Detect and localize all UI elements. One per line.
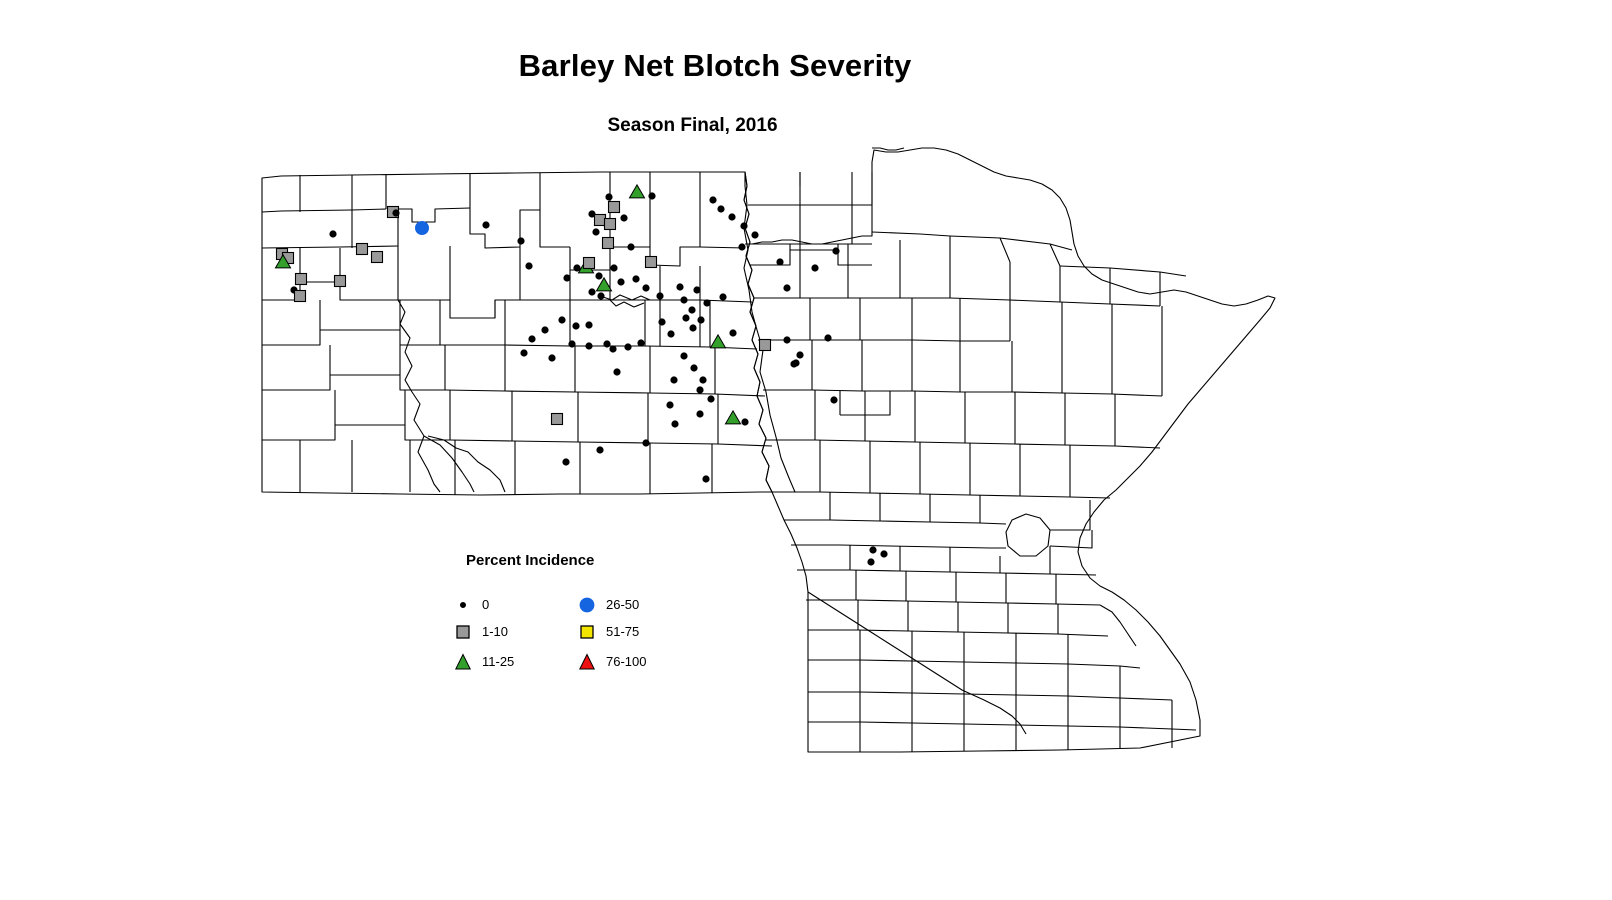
map-point-0: [683, 315, 689, 321]
map-point-0: [542, 327, 548, 333]
map-point-0: [833, 248, 839, 254]
green-triangle: [456, 655, 470, 670]
map-point-0: [708, 396, 714, 402]
small-dot: [460, 602, 465, 607]
map-point-1-10: [609, 202, 620, 213]
map-point-0: [598, 293, 604, 299]
map-point-11-25: [629, 185, 644, 198]
map-point-1-10: [646, 257, 657, 268]
map-point-0: [559, 317, 565, 323]
map-point-0: [549, 355, 555, 361]
legend-label: 76-100: [606, 654, 646, 669]
map-point-0: [812, 265, 818, 271]
map-point-0: [529, 336, 535, 342]
map-point-0: [643, 440, 649, 446]
map-point-0: [720, 294, 726, 300]
map-figure: Barley Net Blotch Severity Season Final,…: [0, 0, 1612, 900]
minnesota-counties: [744, 148, 1275, 752]
map-point-0: [700, 377, 706, 383]
map-point-0: [784, 337, 790, 343]
legend-title: Percent Incidence: [466, 552, 594, 569]
small-dot-icon: [452, 596, 474, 614]
map-point-1-10: [584, 258, 595, 269]
map-point-0: [618, 279, 624, 285]
map-point-0: [694, 287, 700, 293]
map-point-0: [610, 346, 616, 352]
map-point-0: [628, 244, 634, 250]
legend-label: 0: [482, 597, 489, 612]
map-point-0: [569, 341, 575, 347]
map-point-0: [681, 353, 687, 359]
map-point-0: [681, 297, 687, 303]
map-point-0: [729, 214, 735, 220]
map-point-0: [643, 285, 649, 291]
map-point-1-10: [335, 276, 346, 287]
map-point-0: [633, 276, 639, 282]
map-point-0: [697, 387, 703, 393]
map-point-0: [563, 459, 569, 465]
gray-square-icon: [452, 623, 474, 641]
map-point-1-10: [295, 291, 306, 302]
map-point-11-25: [710, 335, 725, 348]
map-point-0: [671, 377, 677, 383]
map-point-0: [691, 365, 697, 371]
gray-square: [457, 626, 469, 638]
legend-label: 51-75: [606, 624, 639, 639]
map-point-0: [621, 215, 627, 221]
map-point-0: [573, 323, 579, 329]
map-point-0: [574, 265, 580, 271]
red-triangle-icon: [576, 653, 598, 671]
map-point-26-50: [416, 222, 429, 235]
map-point-1-10: [296, 274, 307, 285]
legend: Percent Incidence 01-1011-2526-5051-7576…: [452, 552, 752, 682]
legend-label: 11-25: [482, 654, 514, 669]
yellow-square: [581, 626, 593, 638]
map-point-0: [730, 330, 736, 336]
map-point-0: [586, 322, 592, 328]
map-point-0: [784, 285, 790, 291]
legend-label: 1-10: [482, 624, 508, 639]
map-point-0: [704, 300, 710, 306]
map-point-11-25: [596, 278, 611, 291]
map-point-0: [604, 341, 610, 347]
map-point-0: [564, 275, 570, 281]
map-point-0: [649, 193, 655, 199]
map-point-1-10: [372, 252, 383, 263]
map-point-0: [881, 551, 887, 557]
map-point-0: [677, 284, 683, 290]
map-point-0: [330, 231, 336, 237]
map-point-0: [606, 194, 612, 200]
map-point-1-10: [357, 244, 368, 255]
map-point-0: [793, 360, 799, 366]
map-point-0: [868, 559, 874, 565]
yellow-square-icon: [576, 623, 598, 641]
map-point-11-25: [725, 411, 740, 424]
map-point-0: [739, 244, 745, 250]
map-point-0: [625, 344, 631, 350]
map-point-0: [589, 289, 595, 295]
map-point-0: [697, 411, 703, 417]
map-point-1-10: [760, 340, 771, 351]
map-point-0: [690, 325, 696, 331]
map-point-0: [752, 232, 758, 238]
map-point-0: [689, 307, 695, 313]
map-point-1-10: [595, 215, 606, 226]
blue-circle-icon: [576, 596, 598, 614]
map-point-0: [741, 223, 747, 229]
map-point-0: [526, 263, 532, 269]
blue-circle: [580, 598, 594, 612]
legend-label: 26-50: [606, 597, 639, 612]
green-triangle-icon: [452, 653, 474, 671]
north-dakota-counties: [262, 172, 795, 495]
map-point-0: [710, 197, 716, 203]
map-point-0: [611, 265, 617, 271]
map-point-0: [825, 335, 831, 341]
map-point-0: [586, 343, 592, 349]
map-point-0: [483, 222, 489, 228]
map-point-0: [657, 293, 663, 299]
map-point-0: [668, 331, 674, 337]
map-point-1-10: [603, 238, 614, 249]
map-point-1-10: [605, 219, 616, 230]
map-point-0: [393, 210, 399, 216]
map-point-0: [703, 476, 709, 482]
map-point-0: [521, 350, 527, 356]
map-point-0: [593, 229, 599, 235]
map-point-1-10: [552, 414, 563, 425]
map-point-0: [797, 352, 803, 358]
map-point-0: [638, 340, 644, 346]
map-point-0: [742, 419, 748, 425]
map-point-0: [667, 402, 673, 408]
map-point-0: [659, 319, 665, 325]
map-point-0: [672, 421, 678, 427]
map-point-0: [698, 317, 704, 323]
map-point-0: [831, 397, 837, 403]
map-point-0: [614, 369, 620, 375]
choropleth-map: [0, 0, 1612, 900]
map-point-0: [870, 547, 876, 553]
map-point-0: [518, 238, 524, 244]
map-point-0: [718, 206, 724, 212]
map-point-0: [596, 273, 602, 279]
map-point-0: [777, 259, 783, 265]
red-triangle: [580, 655, 594, 670]
map-point-0: [597, 447, 603, 453]
